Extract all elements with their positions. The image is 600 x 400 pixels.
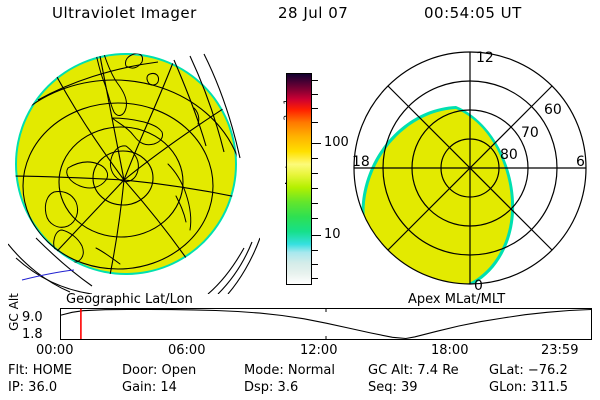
colorbar-tick (312, 250, 318, 251)
mlt-plot-caption: Apex MLat/MLT (408, 292, 505, 307)
colorbar-tick (312, 94, 318, 95)
colorbar-tick (312, 173, 318, 174)
colorbar-tick (312, 158, 318, 159)
status-gain: Gain: 14 (122, 380, 177, 395)
altitude-xtick-labels: 00:00 06:00 12:00 18:00 23:59 (0, 343, 600, 359)
mlt-spokes (354, 52, 586, 284)
colorbar[interactable]: photon cm-2s-1 100 10 (262, 42, 352, 294)
header-bar: Ultraviolet Imager 28 Jul 07 00:54:05 UT (0, 4, 600, 30)
colorbar-tick-major (312, 235, 321, 236)
status-gc-alt: GC Alt: 7.4 Re (368, 363, 459, 378)
mlt-label-12: 12 (476, 50, 494, 66)
header-time: 00:54:05 UT (424, 4, 522, 22)
status-glon: GLon: 311.5 (489, 380, 568, 395)
colorbar-tick (312, 80, 318, 81)
altitude-ytick-high: 9.0 (22, 310, 43, 325)
status-glat: GLat: −76.2 (489, 363, 568, 378)
xtick-label: 00:00 (36, 343, 73, 358)
status-row: Flt: HOME Door: Open Mode: Normal GC Alt… (0, 363, 600, 380)
aurora-oval-group (362, 106, 515, 292)
xtick-label: 12:00 (300, 343, 337, 358)
status-flight: Flt: HOME (8, 363, 72, 378)
colorbar-gradient (286, 73, 312, 285)
colorbar-tick (312, 122, 318, 123)
mlt-label-6: 6 (576, 154, 585, 170)
altitude-ytick-low: 1.8 (22, 327, 43, 342)
mlat-label-60: 60 (544, 102, 562, 118)
xtick-label: 23:59 (541, 343, 578, 358)
altitude-plot-frame (61, 309, 592, 340)
geographic-plot-caption: Geographic Lat/Lon (66, 292, 193, 307)
page-title: Ultraviolet Imager (52, 4, 197, 22)
altitude-plot-svg (60, 308, 592, 340)
colorbar-tick (312, 188, 318, 189)
status-ip: IP: 36.0 (8, 380, 57, 395)
header-date: 28 Jul 07 (278, 4, 348, 22)
mlt-dial-plot[interactable]: 12 6 0 18 60 70 80 (348, 42, 592, 294)
status-row: IP: 36.0 Gain: 14 Dsp: 3.6 Seq: 39 GLon:… (0, 380, 600, 397)
status-footer: Flt: HOME Door: Open Mode: Normal GC Alt… (0, 363, 600, 399)
colorbar-tick (312, 278, 318, 279)
xtick-label: 18:00 (431, 343, 468, 358)
geographic-plot-svg (8, 42, 260, 294)
terminator-trace (22, 270, 74, 280)
xtick-label: 06:00 (168, 343, 205, 358)
status-dsp: Dsp: 3.6 (244, 380, 298, 395)
colorbar-tick (312, 264, 318, 265)
colorbar-tick-major (312, 143, 321, 144)
colorbar-label-100: 100 (324, 136, 349, 149)
status-seq: Seq: 39 (368, 380, 418, 395)
status-mode: Mode: Normal (244, 363, 335, 378)
colorbar-label-10: 10 (324, 228, 341, 241)
geographic-plot[interactable] (8, 42, 260, 294)
altitude-time-plot[interactable] (60, 308, 592, 340)
globe-disk (17, 55, 235, 273)
mlat-label-70: 70 (521, 125, 539, 141)
colorbar-tick (312, 108, 318, 109)
status-door: Door: Open (122, 363, 196, 378)
mlt-dial-svg: 12 6 0 18 60 70 80 (348, 42, 592, 294)
altitude-axis-label: GC Alt (7, 290, 21, 334)
colorbar-tick (312, 218, 318, 219)
mlt-label-18: 18 (352, 154, 370, 170)
colorbar-tick (312, 203, 318, 204)
mlat-label-80: 80 (500, 147, 518, 163)
